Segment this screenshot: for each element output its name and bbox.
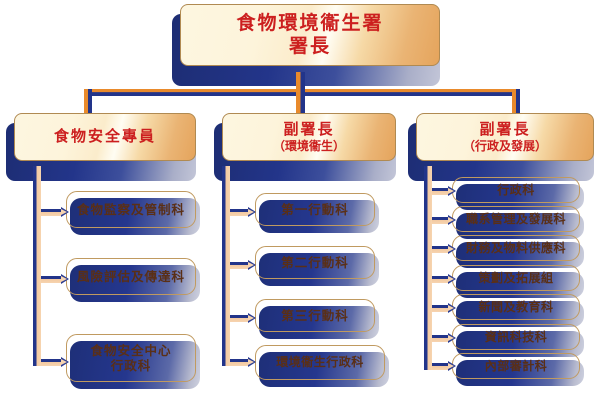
connector-stub-0-1 — [41, 276, 63, 283]
node-root-box: 食物環境衞生署 署長 — [180, 4, 440, 66]
connector-drop-branch-0 — [84, 89, 92, 113]
leaf-1-0-label: 第一行動科 — [281, 202, 349, 217]
node-branch-1-subtitle: （環境衞生） — [273, 139, 345, 153]
connector-spine-branch-2 — [424, 166, 432, 370]
connector-arrow-2-5 — [448, 333, 456, 343]
leaf-2-5[interactable]: 資訊科技科 — [452, 324, 580, 350]
leaf-1-3-box: 環境衞生行政科 — [255, 345, 385, 380]
connector-arrow-0-1 — [61, 274, 69, 284]
connector-stub-1-1 — [230, 262, 250, 269]
leaf-2-1-box: 職系管理及發展科 — [452, 206, 580, 232]
connector-drop-branch-2 — [512, 89, 520, 113]
connector-stub-0-0 — [41, 209, 63, 216]
connector-spine-branch-1 — [222, 166, 230, 366]
connector-arrow-2-6 — [448, 361, 456, 371]
leaf-2-4-box: 新聞及教育科 — [452, 294, 580, 320]
connector-arrow-1-1 — [248, 260, 256, 270]
connector-arrow-2-3 — [448, 274, 456, 284]
connector-stub-1-2 — [230, 315, 250, 322]
connector-arrow-2-0 — [448, 186, 456, 196]
leaf-0-1-label: 風險評估及傳達科 — [77, 269, 185, 284]
leaf-0-1[interactable]: 風險評估及傳達科 — [66, 258, 196, 295]
leaf-1-0[interactable]: 第一行動科 — [255, 193, 375, 226]
node-branch-2-subtitle: （行政及發展） — [463, 139, 547, 153]
leaf-0-1-box: 風險評估及傳達科 — [66, 258, 196, 295]
node-branch-2-title: 副署長 — [479, 120, 530, 138]
node-root-subtitle: 署長 — [289, 35, 331, 58]
node-branch-1[interactable]: 副署長 （環境衞生） — [214, 113, 396, 171]
connector-arrow-1-3 — [248, 357, 256, 367]
leaf-2-1-label: 職系管理及發展科 — [466, 212, 566, 227]
connector-stub-0-2 — [41, 359, 63, 366]
leaf-2-6-box: 內部審計科 — [452, 353, 580, 379]
leaf-2-3[interactable]: 策劃及拓展組 — [452, 265, 580, 291]
leaf-1-2-box: 第三行動科 — [255, 299, 375, 332]
leaf-2-0-label: 行政科 — [497, 183, 535, 198]
connector-arrow-2-1 — [448, 215, 456, 225]
connector-arrow-2-4 — [448, 303, 456, 313]
node-root[interactable]: 食物環境衞生署 署長 — [172, 4, 440, 76]
leaf-1-1[interactable]: 第二行動科 — [255, 246, 375, 279]
leaf-0-2-box: 食物安全中心 行政科 — [66, 334, 196, 382]
leaf-2-2-label: 財務及物料供應科 — [466, 241, 566, 256]
node-branch-1-title: 副署長 — [283, 120, 334, 138]
leaf-1-3-label: 環境衞生行政科 — [276, 355, 364, 370]
node-branch-0-box: 食物安全專員 — [14, 113, 196, 161]
leaf-1-0-box: 第一行動科 — [255, 193, 375, 226]
connector-stub-1-3 — [230, 359, 250, 366]
leaf-2-3-box: 策劃及拓展組 — [452, 265, 580, 291]
node-branch-1-box: 副署長 （環境衞生） — [222, 113, 396, 161]
connector-arrow-2-2 — [448, 244, 456, 254]
leaf-1-3[interactable]: 環境衞生行政科 — [255, 345, 385, 380]
leaf-2-0-box: 行政科 — [452, 177, 580, 203]
leaf-0-2-label: 食物安全中心 行政科 — [90, 343, 171, 374]
leaf-2-5-box: 資訊科技科 — [452, 324, 580, 350]
leaf-1-2-label: 第三行動科 — [281, 308, 349, 323]
leaf-2-4-label: 新聞及教育科 — [478, 300, 553, 315]
leaf-2-5-label: 資訊科技科 — [485, 330, 548, 345]
connector-root-trunk — [296, 72, 305, 96]
leaf-2-6[interactable]: 內部審計科 — [452, 353, 580, 379]
connector-stub-1-0 — [230, 209, 250, 216]
leaf-0-0-box: 食物監察及管制科 — [66, 191, 196, 228]
leaf-1-1-box: 第二行動科 — [255, 246, 375, 279]
leaf-2-0[interactable]: 行政科 — [452, 177, 580, 203]
leaf-2-3-label: 策劃及拓展組 — [478, 271, 553, 286]
leaf-0-0-label: 食物監察及管制科 — [77, 202, 185, 217]
connector-arrow-0-0 — [61, 207, 69, 217]
leaf-0-2[interactable]: 食物安全中心 行政科 — [66, 334, 196, 382]
leaf-2-2-box: 財務及物料供應科 — [452, 235, 580, 261]
connector-arrow-1-2 — [248, 313, 256, 323]
leaf-2-2[interactable]: 財務及物料供應科 — [452, 235, 580, 261]
leaf-1-2[interactable]: 第三行動科 — [255, 299, 375, 332]
node-branch-0-title: 食物安全專員 — [54, 127, 156, 145]
leaf-2-6-label: 內部審計科 — [485, 359, 548, 374]
node-root-title: 食物環境衞生署 — [236, 12, 383, 35]
connector-arrow-1-0 — [248, 207, 256, 217]
leaf-1-1-label: 第二行動科 — [281, 255, 349, 270]
connector-arrow-0-2 — [61, 357, 69, 367]
node-branch-0[interactable]: 食物安全專員 — [6, 113, 196, 171]
leaf-0-0[interactable]: 食物監察及管制科 — [66, 191, 196, 228]
leaf-2-1[interactable]: 職系管理及發展科 — [452, 206, 580, 232]
leaf-2-4[interactable]: 新聞及教育科 — [452, 294, 580, 320]
org-chart: 食物環境衞生署 署長 食物安全專員 食物監察及管制科 風險評估及傳達科 食物 — [0, 0, 600, 400]
node-branch-2-box: 副署長 （行政及發展） — [416, 113, 594, 161]
node-branch-2[interactable]: 副署長 （行政及發展） — [408, 113, 594, 171]
connector-spine-branch-0 — [33, 166, 41, 366]
